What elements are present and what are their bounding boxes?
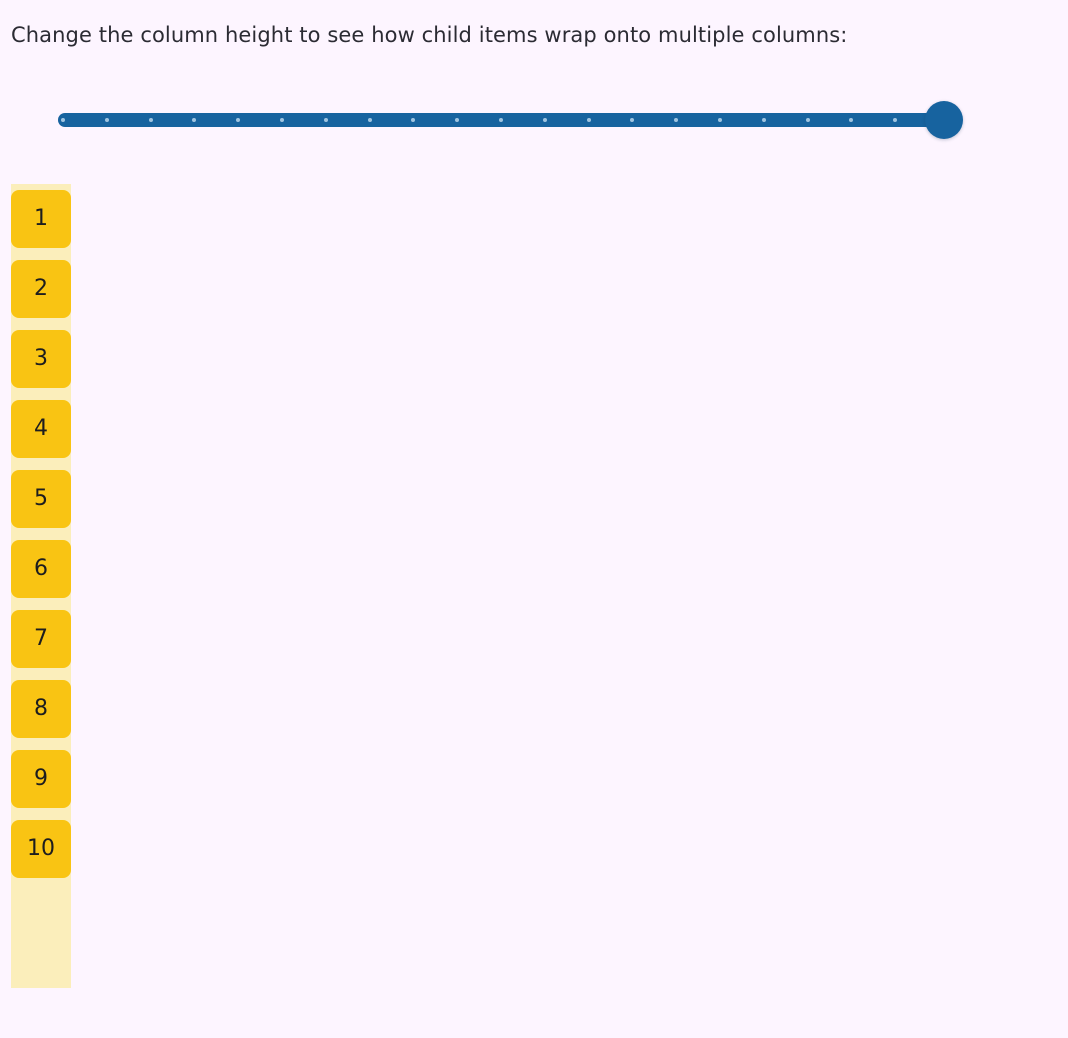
slider-tick (324, 118, 328, 122)
page-root: Change the column height to see how chil… (0, 0, 1068, 1038)
slider-tick (543, 118, 547, 122)
column-height-slider[interactable] (58, 100, 982, 140)
slider-tick (762, 118, 766, 122)
flex-item: 1 (11, 190, 71, 248)
page-instruction-text: Change the column height to see how chil… (11, 20, 847, 50)
flex-item: 9 (11, 750, 71, 808)
flex-item: 4 (11, 400, 71, 458)
flex-item: 7 (11, 610, 71, 668)
flex-item: 10 (11, 820, 71, 878)
slider-tick (893, 118, 897, 122)
slider-tick (806, 118, 810, 122)
slider-tick (630, 118, 634, 122)
wrapping-column-container: 12345678910 (11, 184, 71, 988)
slider-tick (368, 118, 372, 122)
flex-item: 5 (11, 470, 71, 528)
slider-tick (61, 118, 65, 122)
slider-tick (236, 118, 240, 122)
slider-tick (455, 118, 459, 122)
flex-item: 8 (11, 680, 71, 738)
slider-tick (411, 118, 415, 122)
slider-tick (674, 118, 678, 122)
flex-item: 3 (11, 330, 71, 388)
slider-tick (105, 118, 109, 122)
slider-tick (499, 118, 503, 122)
slider-thumb-handle[interactable] (925, 101, 963, 139)
slider-tick (587, 118, 591, 122)
slider-tick (192, 118, 196, 122)
flex-item: 6 (11, 540, 71, 598)
slider-tick (149, 118, 153, 122)
slider-tick (849, 118, 853, 122)
flex-item: 2 (11, 260, 71, 318)
slider-tick (718, 118, 722, 122)
slider-tick (280, 118, 284, 122)
slider-tick-marks (58, 113, 944, 127)
